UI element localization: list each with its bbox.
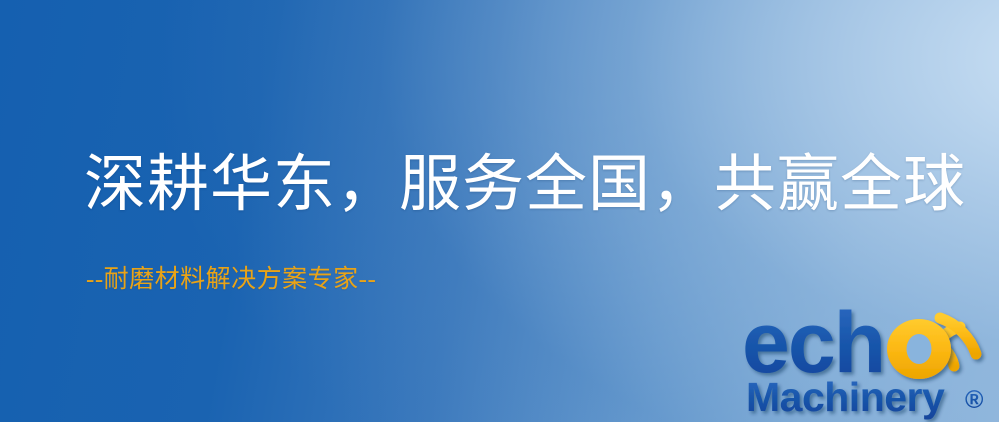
company-logo[interactable]: ech Machinery ® [742, 296, 999, 422]
hero-banner: 深耕华东，服务全国，共赢全球 --耐磨材料解决方案专家-- [0, 0, 999, 422]
registered-trademark-icon: ® [965, 386, 984, 414]
logo-accent-letter-o [887, 319, 951, 379]
banner-subtitle: --耐磨材料解决方案专家-- [86, 265, 376, 295]
banner-headline: 深耕华东，服务全国，共赢全球 [84, 152, 944, 219]
logo-subtext: Machinery [746, 374, 945, 420]
